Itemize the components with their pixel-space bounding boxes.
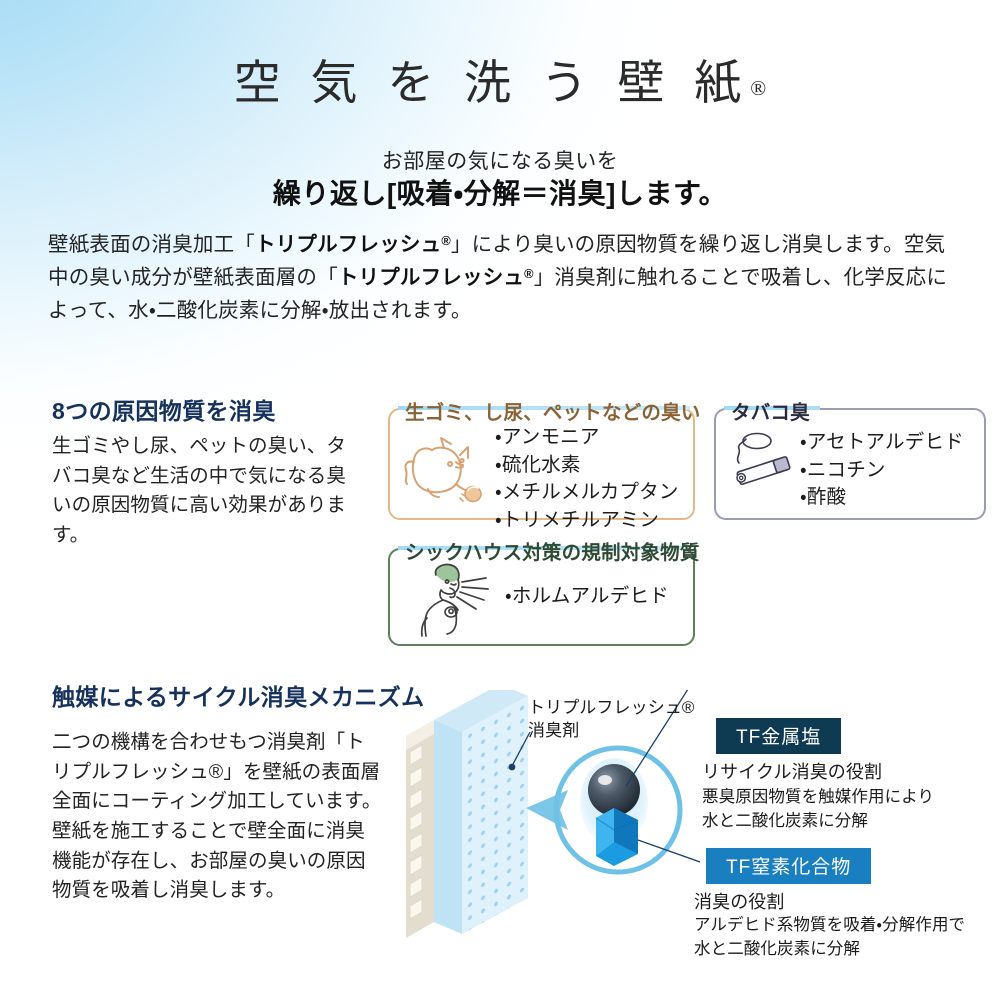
page-title: 空 気 を 洗 う 壁 紙®	[0, 44, 1000, 113]
odor-box-tobacco-items: ・アセトアルデヒド ・ニコチン ・酢酸	[800, 429, 964, 512]
odor-box-waste-legend: 生ゴミ、し尿、ペットなどの臭い	[398, 396, 708, 425]
tf-nitrogen-desc-line-2: 水と二酸化炭素に分解	[694, 938, 965, 962]
odor-box-tobacco-legend: タバコ臭	[724, 396, 817, 425]
tf-nitrogen-desc-line-1: アルデヒド系物質を吸着・分解作用で	[694, 914, 965, 938]
tf-agent-label-line-2: 消臭剤	[528, 720, 695, 743]
section-1-body: 生ゴミやし尿、ペットの臭い、タバコ臭など生活の中で気になる臭いの原因物質に高い効…	[52, 432, 362, 551]
odor-item: ・トリメチルアミン	[495, 507, 679, 535]
odor-item: ・アンモニア	[495, 424, 679, 452]
magnify-arrow	[526, 790, 568, 830]
tf-metal-salt-description: 悪臭原因物質を触媒作用により 水と二酸化炭素に分解	[702, 786, 934, 834]
registered-mark: ®	[750, 76, 766, 100]
subtitle-line-2: 繰り返し[吸着・分解＝消臭]します。	[0, 172, 1000, 212]
tf-nitrogen-badge: TF窒素化合物	[706, 848, 871, 884]
sphere-highlight	[598, 775, 612, 785]
leader-dot-agent	[509, 764, 516, 771]
tf-nitrogen-description: アルデヒド系物質を吸着・分解作用で 水と二酸化炭素に分解	[694, 914, 965, 962]
tf-metal-salt-badge: TF金属塩	[716, 718, 841, 754]
wallpaper-dot-texture	[462, 696, 528, 934]
tf-metal-salt-role: リサイクル消臭の役割	[702, 758, 882, 784]
cigarette-icon	[726, 430, 802, 500]
tf-metal-salt-desc-line-2: 水と二酸化炭素に分解	[702, 810, 934, 834]
tf-agent-label: トリプルフレッシュ® 消臭剤	[528, 697, 695, 743]
odor-item: ・酢酸	[800, 484, 964, 512]
subtitle-line-1: お部屋の気になる臭いを	[0, 145, 1000, 175]
brand-text-2: トリプルフレッシュ	[338, 266, 524, 289]
brand-name-1: トリプルフレッシュ®	[255, 233, 451, 256]
brand-text-1: トリプルフレッシュ	[255, 233, 441, 256]
brand-name-2: トリプルフレッシュ®	[338, 266, 534, 289]
registered-mark-inline-1: ®	[441, 233, 451, 248]
coughing-person-icon	[410, 560, 500, 638]
page-title-text: 空 気 を 洗 う 壁 紙	[234, 58, 751, 110]
tf-agent-label-line-1: トリプルフレッシュ®	[528, 697, 695, 720]
cat-icon	[398, 432, 498, 510]
section-2-body: 二つの機構を合わせもつ消臭剤「トリプルフレッシュ®」を壁紙の表面層全面にコーティ…	[52, 728, 382, 906]
odor-item: ・硫化水素	[495, 452, 679, 480]
odor-item: ・アセトアルデヒド	[800, 429, 964, 457]
odor-box-waste-items: ・アンモニア ・硫化水素 ・メチルメルカプタン ・トリメチルアミン	[495, 424, 679, 535]
wallpaper-edge-layer	[406, 720, 434, 938]
section-1-heading: 8つの原因物質を消臭	[52, 392, 276, 426]
lead-paragraph: 壁紙表面の消臭加工「トリプルフレッシュ®」により臭いの原因物質を繰り返し消臭しま…	[48, 228, 953, 328]
odor-item: ・ニコチン	[800, 457, 964, 485]
odor-item: ・ホルムアルデヒド	[505, 583, 669, 611]
registered-mark-inline-2: ®	[524, 266, 534, 281]
lead-seg-1: 壁紙表面の消臭加工「	[48, 233, 255, 256]
odor-box-sickhouse-items: ・ホルムアルデヒド	[505, 583, 669, 611]
section-2-heading: 触媒によるサイクル消臭メカニズム	[52, 678, 425, 712]
wallpaper-side-face	[434, 720, 462, 934]
odor-box-sickhouse-legend: シックハウス対策の規制対象物質	[398, 536, 707, 565]
odor-item: ・メチルメルカプタン	[495, 479, 679, 507]
tf-metal-salt-desc-line-1: 悪臭原因物質を触媒作用により	[702, 786, 934, 810]
page-root: 空 気 を 洗 う 壁 紙® お部屋の気になる臭いを 繰り返し[吸着・分解＝消臭…	[0, 0, 1000, 1000]
tf-nitrogen-role: 消臭の役割	[694, 888, 785, 914]
